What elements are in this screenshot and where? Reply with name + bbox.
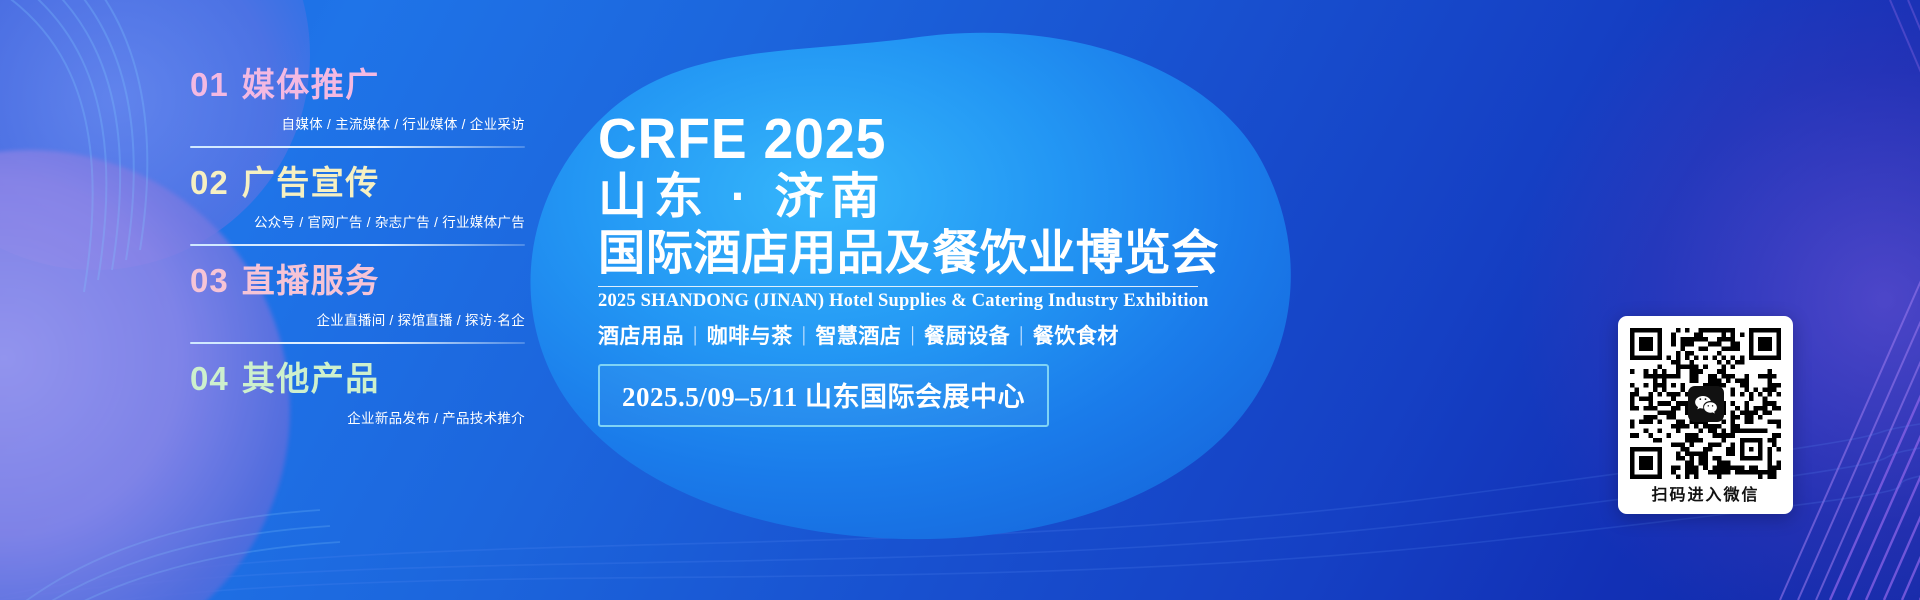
- service-title: 媒体推广: [242, 68, 380, 101]
- service-title: 其他产品: [242, 362, 380, 395]
- service-number: 04: [190, 362, 229, 395]
- category-separator: |: [802, 322, 807, 347]
- qr-caption: 扫码进入微信: [1630, 484, 1781, 508]
- service-subtitle: 企业新品发布 / 产品技术推介: [190, 407, 525, 427]
- category-item[interactable]: 咖啡与茶: [707, 320, 793, 350]
- service-title: 广告宣传: [242, 166, 380, 199]
- list-item[interactable]: 02 广告宣传 公众号 / 官网广告 / 杂志广告 / 行业媒体广告: [190, 166, 525, 264]
- category-item[interactable]: 酒店用品: [598, 320, 684, 350]
- service-subtitle: 自媒体 / 主流媒体 / 行业媒体 / 企业采访: [190, 113, 525, 133]
- category-separator: |: [1019, 322, 1024, 347]
- event-title: 国际酒店用品及餐饮业博览会: [598, 228, 1189, 281]
- service-heading: 03 直播服务: [190, 264, 525, 297]
- service-heading: 01 媒体推广: [190, 68, 525, 101]
- event-title-en: 2025 SHANDONG (JINAN) Hotel Supplies & C…: [598, 286, 1198, 312]
- wechat-icon: [1688, 386, 1724, 422]
- divider: [190, 244, 525, 246]
- divider: [190, 146, 525, 148]
- category-separator: |: [693, 322, 698, 347]
- list-item[interactable]: 04 其他产品 企业新品发布 / 产品技术推介: [190, 362, 525, 431]
- services-list: 01 媒体推广 自媒体 / 主流媒体 / 行业媒体 / 企业采访 02 广告宣传…: [190, 68, 525, 431]
- service-heading: 02 广告宣传: [190, 166, 525, 199]
- list-item[interactable]: 01 媒体推广 自媒体 / 主流媒体 / 行业媒体 / 企业采访: [190, 68, 525, 166]
- wechat-qr-card[interactable]: 扫码进入微信: [1618, 316, 1793, 514]
- service-number: 02: [190, 166, 229, 199]
- service-number: 03: [190, 264, 229, 297]
- event-title-block: CRFE 2025 山东 · 济南 国际酒店用品及餐饮业博览会 2025 SHA…: [598, 110, 1198, 427]
- category-separator: |: [910, 322, 915, 347]
- service-number: 01: [190, 68, 229, 101]
- service-subtitle: 公众号 / 官网广告 / 杂志广告 / 行业媒体广告: [190, 211, 525, 231]
- category-item[interactable]: 智慧酒店: [815, 320, 901, 350]
- event-categories: 酒店用品|咖啡与茶|智慧酒店|餐厨设备|餐饮食材: [598, 320, 1198, 350]
- list-item[interactable]: 03 直播服务 企业直播间 / 探馆直播 / 探访·名企: [190, 264, 525, 362]
- service-heading: 04 其他产品: [190, 362, 525, 395]
- category-item[interactable]: 餐厨设备: [924, 320, 1010, 350]
- event-city: 山东 · 济南: [598, 171, 1198, 224]
- divider: [190, 342, 525, 344]
- qr-code[interactable]: [1630, 328, 1781, 479]
- category-item[interactable]: 餐饮食材: [1033, 320, 1119, 350]
- promo-banner: 01 媒体推广 自媒体 / 主流媒体 / 行业媒体 / 企业采访 02 广告宣传…: [0, 0, 1920, 600]
- service-subtitle: 企业直播间 / 探馆直播 / 探访·名企: [190, 309, 525, 329]
- service-title: 直播服务: [242, 264, 380, 297]
- event-date-venue[interactable]: 2025.5/09–5/11 山东国际会展中心: [598, 364, 1049, 427]
- event-brand: CRFE 2025: [598, 110, 1162, 168]
